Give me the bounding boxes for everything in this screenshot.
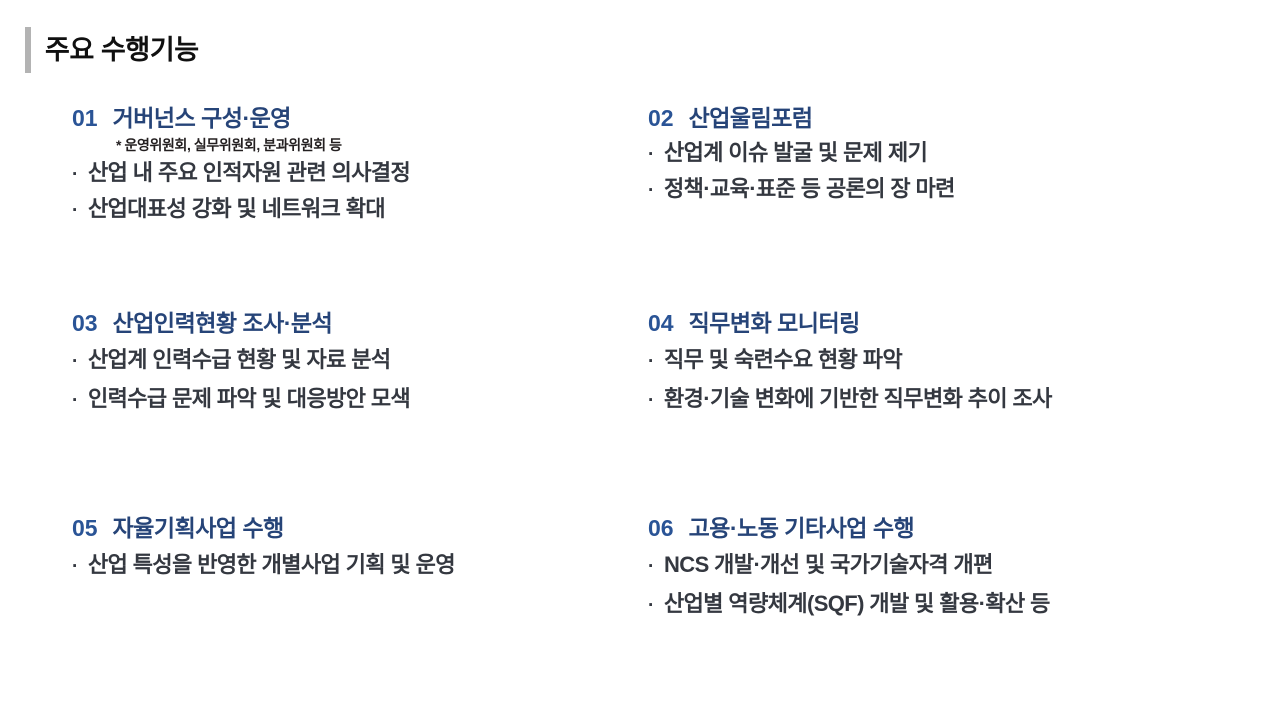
section-02: 02 산업울림포럼 · 산업계 이슈 발굴 및 문제 제기 · 정책·교육·표준… bbox=[648, 106, 1248, 200]
list-item: · 직무 및 숙련수요 현황 파악 bbox=[648, 349, 1248, 371]
list-item-label: 산업 내 주요 인적자원 관련 의사결정 bbox=[88, 162, 410, 184]
section-04: 04 직무변화 모니터링 · 직무 및 숙련수요 현황 파악 · 환경·기술 변… bbox=[648, 311, 1248, 427]
list-item: · 정책·교육·표준 등 공론의 장 마련 bbox=[648, 178, 1248, 200]
list-item-label: 산업 특성을 반영한 개별사업 기획 및 운영 bbox=[88, 554, 455, 576]
section-bullet-list: · 산업 특성을 반영한 개별사업 기획 및 운영 bbox=[72, 554, 632, 576]
section-bullet-list: · NCS 개발·개선 및 국가기술자격 개편 · 산업별 역량체계(SQF) … bbox=[648, 554, 1248, 615]
list-item: · 산업 특성을 반영한 개별사업 기획 및 운영 bbox=[72, 554, 632, 576]
section-number: 04 bbox=[648, 311, 674, 337]
bullet-marker-icon: · bbox=[648, 596, 664, 615]
list-item: · 산업대표성 강화 및 네트워크 확대 bbox=[72, 198, 632, 220]
section-number: 02 bbox=[648, 106, 674, 132]
section-06: 06 고용·노동 기타사업 수행 · NCS 개발·개선 및 국가기술자격 개편… bbox=[648, 516, 1248, 632]
section-bullet-list: · 직무 및 숙련수요 현황 파악 · 환경·기술 변화에 기반한 직무변화 추… bbox=[648, 349, 1248, 410]
section-number: 01 bbox=[72, 106, 98, 132]
sections-row: 05 자율기획사업 수행 · 산업 특성을 반영한 개별사업 기획 및 운영 0… bbox=[0, 516, 1280, 696]
list-item: · 환경·기술 변화에 기반한 직무변화 추이 조사 bbox=[648, 388, 1248, 410]
section-bullet-list: · 산업계 인력수급 현황 및 자료 분석 · 인력수급 문제 파악 및 대응방… bbox=[72, 349, 632, 410]
section-title: 고용·노동 기타사업 수행 bbox=[689, 516, 915, 542]
section-bullet-list: · 산업계 이슈 발굴 및 문제 제기 · 정책·교육·표준 등 공론의 장 마… bbox=[648, 142, 1248, 200]
list-item-label: 산업계 이슈 발굴 및 문제 제기 bbox=[664, 142, 927, 164]
section-note: * 운영위원회, 실무위원회, 분과위원회 등 bbox=[116, 138, 632, 153]
list-item-label: 산업별 역량체계(SQF) 개발 및 활용·확산 등 bbox=[664, 593, 1050, 615]
bullet-marker-icon: · bbox=[648, 352, 664, 371]
sections-grid: 01 거버넌스 구성·운영 * 운영위원회, 실무위원회, 분과위원회 등 · … bbox=[0, 106, 1280, 696]
section-03: 03 산업인력현황 조사·분석 · 산업계 인력수급 현황 및 자료 분석 · … bbox=[72, 311, 632, 427]
title-accent-bar bbox=[25, 27, 31, 73]
bullet-marker-icon: · bbox=[72, 201, 88, 220]
section-bullet-list: · 산업 내 주요 인적자원 관련 의사결정 · 산업대표성 강화 및 네트워크… bbox=[72, 162, 632, 220]
list-item: · 산업계 이슈 발굴 및 문제 제기 bbox=[648, 142, 1248, 164]
list-item-label: 환경·기술 변화에 기반한 직무변화 추이 조사 bbox=[664, 388, 1052, 410]
list-item: · NCS 개발·개선 및 국가기술자격 개편 bbox=[648, 554, 1248, 576]
section-heading: 03 산업인력현황 조사·분석 bbox=[72, 311, 632, 337]
page-title: 주요 수행기능 bbox=[25, 27, 199, 73]
section-heading: 01 거버넌스 구성·운영 bbox=[72, 106, 632, 132]
list-item-label: 정책·교육·표준 등 공론의 장 마련 bbox=[664, 178, 955, 200]
section-heading: 02 산업울림포럼 bbox=[648, 106, 1248, 132]
bullet-marker-icon: · bbox=[72, 352, 88, 371]
section-heading: 06 고용·노동 기타사업 수행 bbox=[648, 516, 1248, 542]
section-number: 06 bbox=[648, 516, 674, 542]
list-item: · 산업계 인력수급 현황 및 자료 분석 bbox=[72, 349, 632, 371]
section-title: 산업울림포럼 bbox=[689, 106, 813, 132]
sections-row: 03 산업인력현황 조사·분석 · 산업계 인력수급 현황 및 자료 분석 · … bbox=[0, 311, 1280, 516]
list-item-label: 산업대표성 강화 및 네트워크 확대 bbox=[88, 198, 385, 220]
section-title: 자율기획사업 수행 bbox=[113, 516, 284, 542]
section-title: 산업인력현황 조사·분석 bbox=[113, 311, 333, 337]
bullet-marker-icon: · bbox=[72, 557, 88, 576]
bullet-marker-icon: · bbox=[648, 181, 664, 200]
bullet-marker-icon: · bbox=[648, 145, 664, 164]
section-title: 거버넌스 구성·운영 bbox=[113, 106, 291, 132]
bullet-marker-icon: · bbox=[72, 391, 88, 410]
list-item: · 인력수급 문제 파악 및 대응방안 모색 bbox=[72, 388, 632, 410]
section-05: 05 자율기획사업 수행 · 산업 특성을 반영한 개별사업 기획 및 운영 bbox=[72, 516, 632, 593]
list-item: · 산업 내 주요 인적자원 관련 의사결정 bbox=[72, 162, 632, 184]
bullet-marker-icon: · bbox=[648, 557, 664, 576]
section-heading: 05 자율기획사업 수행 bbox=[72, 516, 632, 542]
list-item: · 산업별 역량체계(SQF) 개발 및 활용·확산 등 bbox=[648, 593, 1248, 615]
bullet-marker-icon: · bbox=[72, 165, 88, 184]
section-number: 05 bbox=[72, 516, 98, 542]
section-01: 01 거버넌스 구성·운영 * 운영위원회, 실무위원회, 분과위원회 등 · … bbox=[72, 106, 632, 220]
section-number: 03 bbox=[72, 311, 98, 337]
list-item-label: NCS 개발·개선 및 국가기술자격 개편 bbox=[664, 554, 993, 576]
section-title: 직무변화 모니터링 bbox=[689, 311, 860, 337]
list-item-label: 직무 및 숙련수요 현황 파악 bbox=[664, 349, 902, 371]
sections-row: 01 거버넌스 구성·운영 * 운영위원회, 실무위원회, 분과위원회 등 · … bbox=[0, 106, 1280, 311]
bullet-marker-icon: · bbox=[648, 391, 664, 410]
page-title-text: 주요 수행기능 bbox=[45, 37, 199, 64]
list-item-label: 산업계 인력수급 현황 및 자료 분석 bbox=[88, 349, 391, 371]
section-heading: 04 직무변화 모니터링 bbox=[648, 311, 1248, 337]
list-item-label: 인력수급 문제 파악 및 대응방안 모색 bbox=[88, 388, 410, 410]
